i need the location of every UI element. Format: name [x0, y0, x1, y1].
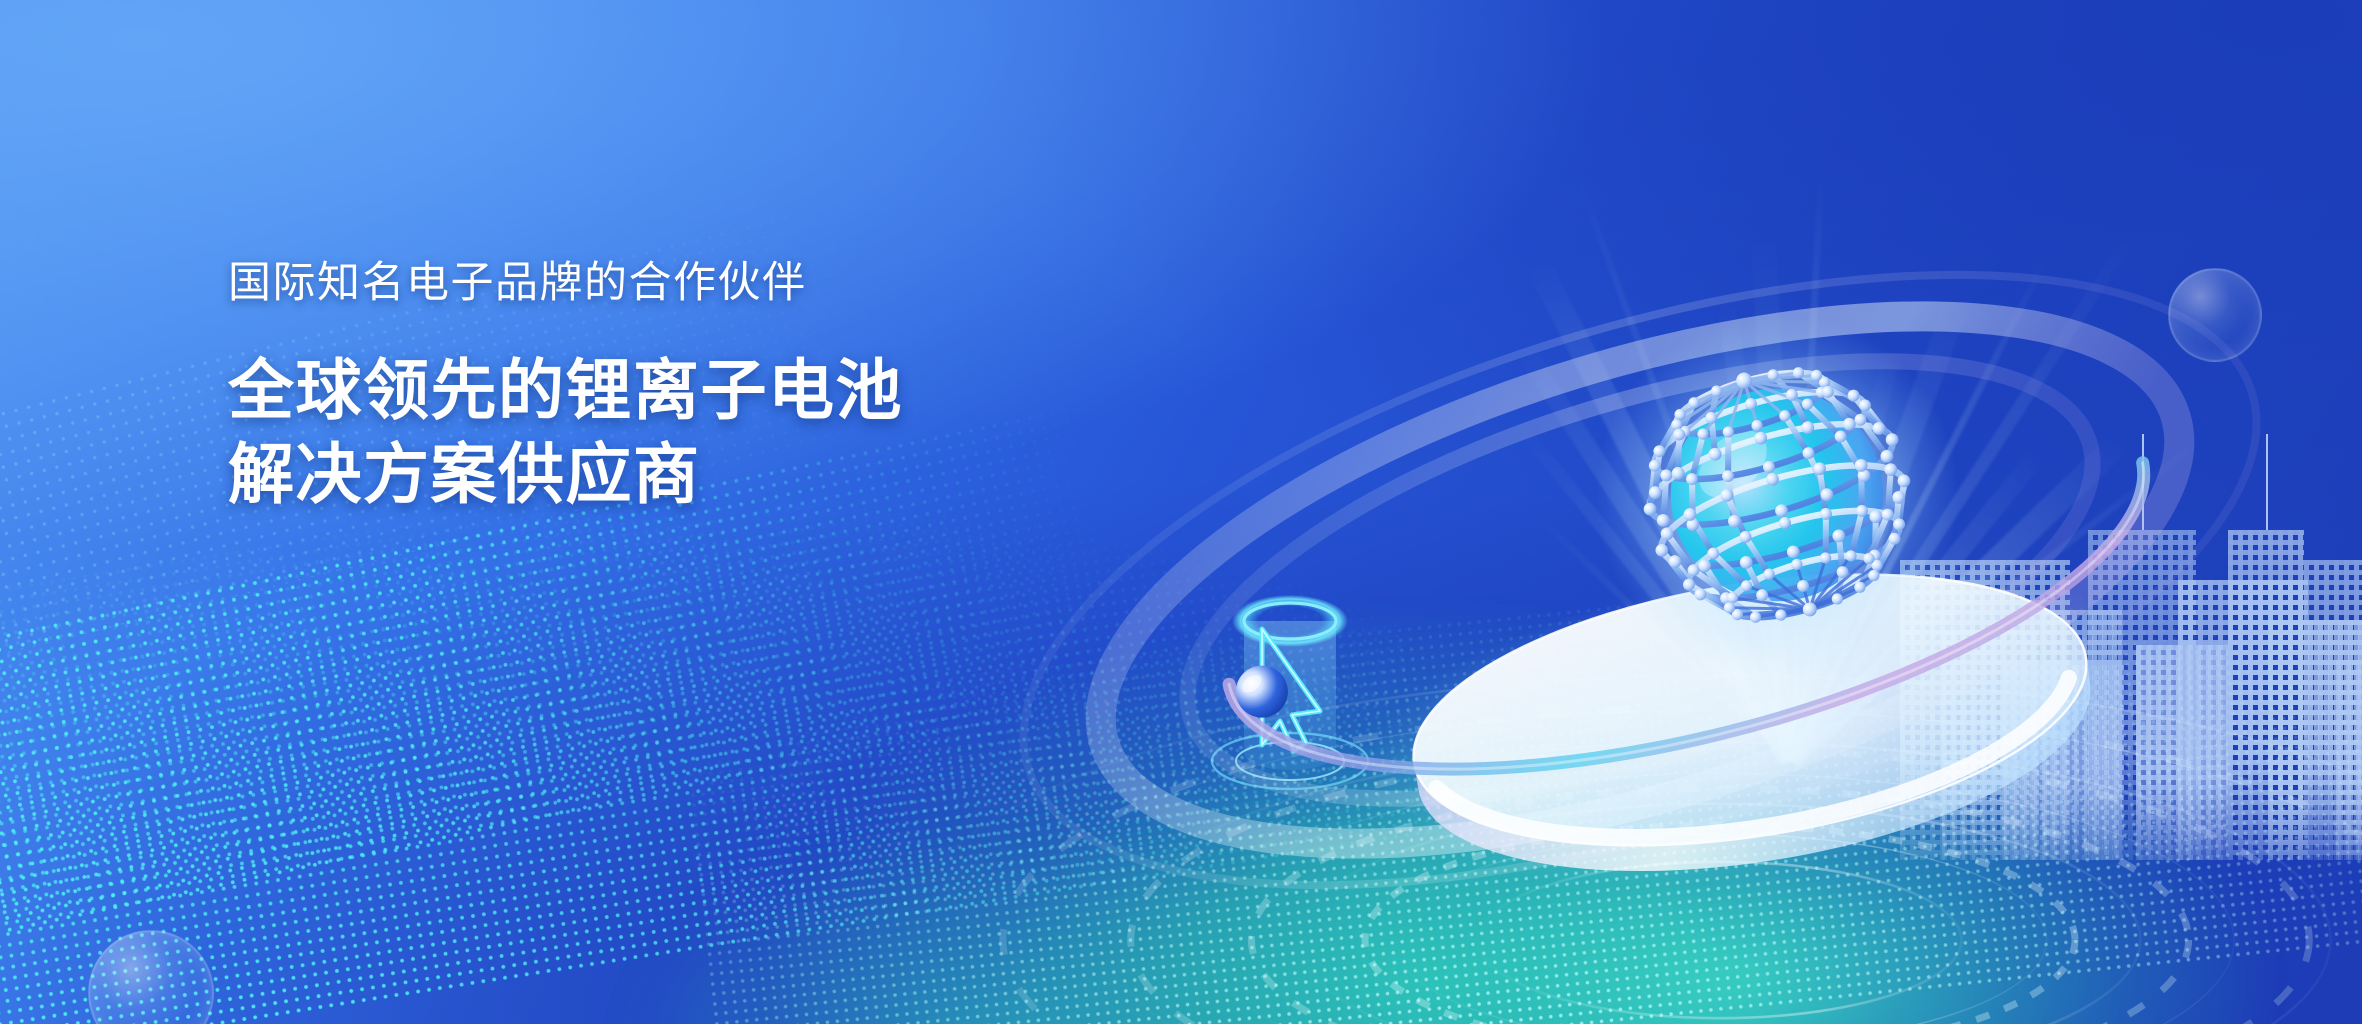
- glass-bubble-top-right: [2168, 268, 2262, 362]
- skyline-building: [2268, 620, 2362, 860]
- tech-arc-dashed: [1251, 788, 2188, 1024]
- glass-bubble-bottom-left: [88, 930, 214, 1024]
- hero-copy-block: 国际知名电子品牌的合作伙伴 全球领先的锂离子电池 解决方案供应商: [228, 262, 903, 517]
- platform-highlight: [1435, 678, 2085, 876]
- banner-headline-line1: 全球领先的锂离子电池: [228, 349, 903, 433]
- halftone-dot-field-teal: [678, 523, 2362, 1024]
- skyline-building: [1942, 630, 2038, 860]
- teal-glow-primary: [760, 600, 2120, 1024]
- cursor-arrow-beam-icon: [1200, 585, 1380, 795]
- skyline-building: [2088, 530, 2196, 860]
- tech-arc: [1206, 773, 2234, 1024]
- skyline-spire: [2142, 434, 2144, 530]
- tech-arc: [904, 676, 2362, 1024]
- skyline-building: [2136, 645, 2228, 860]
- skyline-spire: [2266, 434, 2268, 530]
- skyline-building: [2042, 610, 2122, 860]
- concentric-tech-arcs: [620, 470, 2362, 1024]
- tech-arc: [1300, 804, 2141, 1024]
- platform-edge: [1414, 657, 2109, 914]
- teal-glow-tertiary: [620, 830, 1380, 1024]
- skyline-building: [2304, 560, 2362, 860]
- skyline-building: [2178, 580, 2308, 860]
- skyline-building: [2228, 530, 2304, 860]
- tech-arc-dashed: [1365, 825, 2075, 1024]
- tech-arc: [1479, 862, 1962, 1018]
- wireframe-globe-icon: [1612, 330, 1942, 660]
- banner-headline-line2: 解决方案供应商: [228, 433, 903, 517]
- skyline-building: [2004, 665, 2124, 860]
- pixel-city-skyline: [1892, 360, 2362, 860]
- tech-arc: [1393, 834, 2046, 1024]
- skyline-building: [2336, 660, 2362, 860]
- hero-banner: 国际知名电子品牌的合作伙伴 全球领先的锂离子电池 解决方案供应商: [0, 0, 2362, 1024]
- banner-eyebrow: 国际知名电子品牌的合作伙伴: [228, 262, 903, 305]
